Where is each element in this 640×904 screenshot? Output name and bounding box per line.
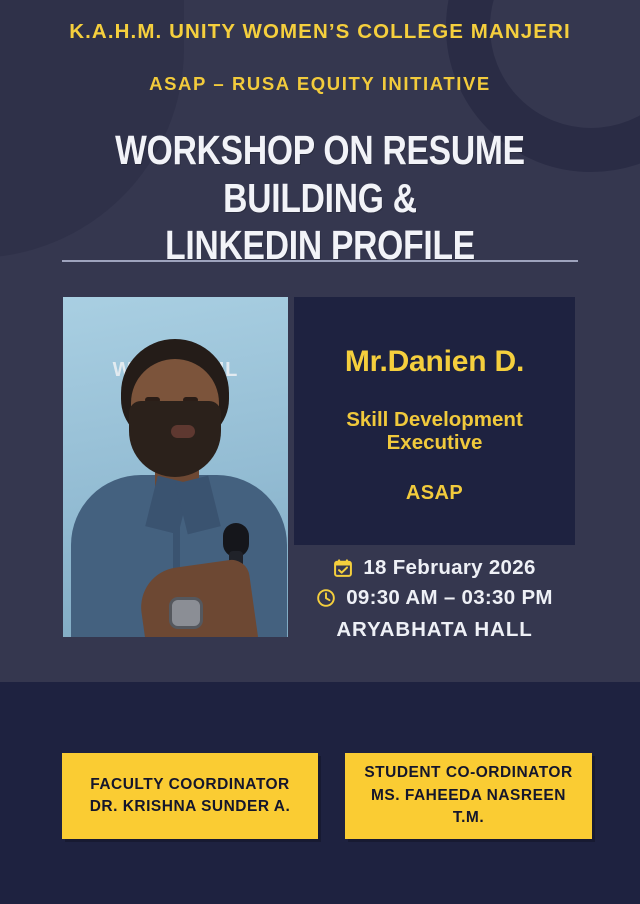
event-venue: ARYABHATA HALL <box>294 618 575 642</box>
faculty-coordinator-name: DR. KRISHNA SUNDER A. <box>84 796 297 818</box>
event-date-row: 18 February 2026 <box>294 556 575 580</box>
organization-name: K.A.H.M. UNITY WOMEN’S COLLEGE MANJERI <box>0 20 640 45</box>
faculty-coordinator-box: FACULTY COORDINATOR DR. KRISHNA SUNDER A… <box>62 753 318 839</box>
speaker-role-line-2: Executive <box>346 432 523 454</box>
speaker-organization: ASAP <box>406 482 463 505</box>
clock-icon <box>316 588 336 608</box>
divider <box>62 260 578 262</box>
student-coordinator-name-suffix: T.M. <box>447 807 490 829</box>
speaker-role-line-1: Skill Development <box>346 409 523 431</box>
event-time-row: 09:30 AM – 03:30 PM <box>294 586 575 610</box>
event-date: 18 February 2026 <box>363 556 535 580</box>
title-line-1: WORKSHOP ON RESUME BUILDING & <box>87 127 553 222</box>
student-coordinator-box: STUDENT CO-ORDINATOR MS. FAHEEDA NASREEN… <box>345 753 592 839</box>
title-line-2: LINKEDIN PROFILE <box>87 222 553 270</box>
page-title: WORKSHOP ON RESUME BUILDING & LINKEDIN P… <box>87 127 553 270</box>
speaker-photo: WINN RMUL <box>63 297 288 637</box>
initiative-subtitle: ASAP – RUSA EQUITY INITIATIVE <box>0 73 640 95</box>
photo-mouth <box>171 425 195 438</box>
student-coordinator-role: STUDENT CO-ORDINATOR <box>358 762 578 784</box>
event-details: 18 February 2026 09:30 AM – 03:30 PM ARY… <box>294 556 575 642</box>
speaker-name: Mr.Danien D. <box>345 345 524 379</box>
calendar-icon <box>333 558 353 578</box>
student-coordinator-name: MS. FAHEEDA NASREEN <box>365 785 572 807</box>
speaker-info-panel: Mr.Danien D. Skill Development Executive… <box>294 297 575 545</box>
event-time: 09:30 AM – 03:30 PM <box>346 586 553 610</box>
photo-wristwatch <box>169 597 203 629</box>
faculty-coordinator-role: FACULTY COORDINATOR <box>84 774 296 796</box>
speaker-role: Skill Development Executive <box>338 409 531 453</box>
event-poster: K.A.H.M. UNITY WOMEN’S COLLEGE MANJERI A… <box>0 0 640 904</box>
